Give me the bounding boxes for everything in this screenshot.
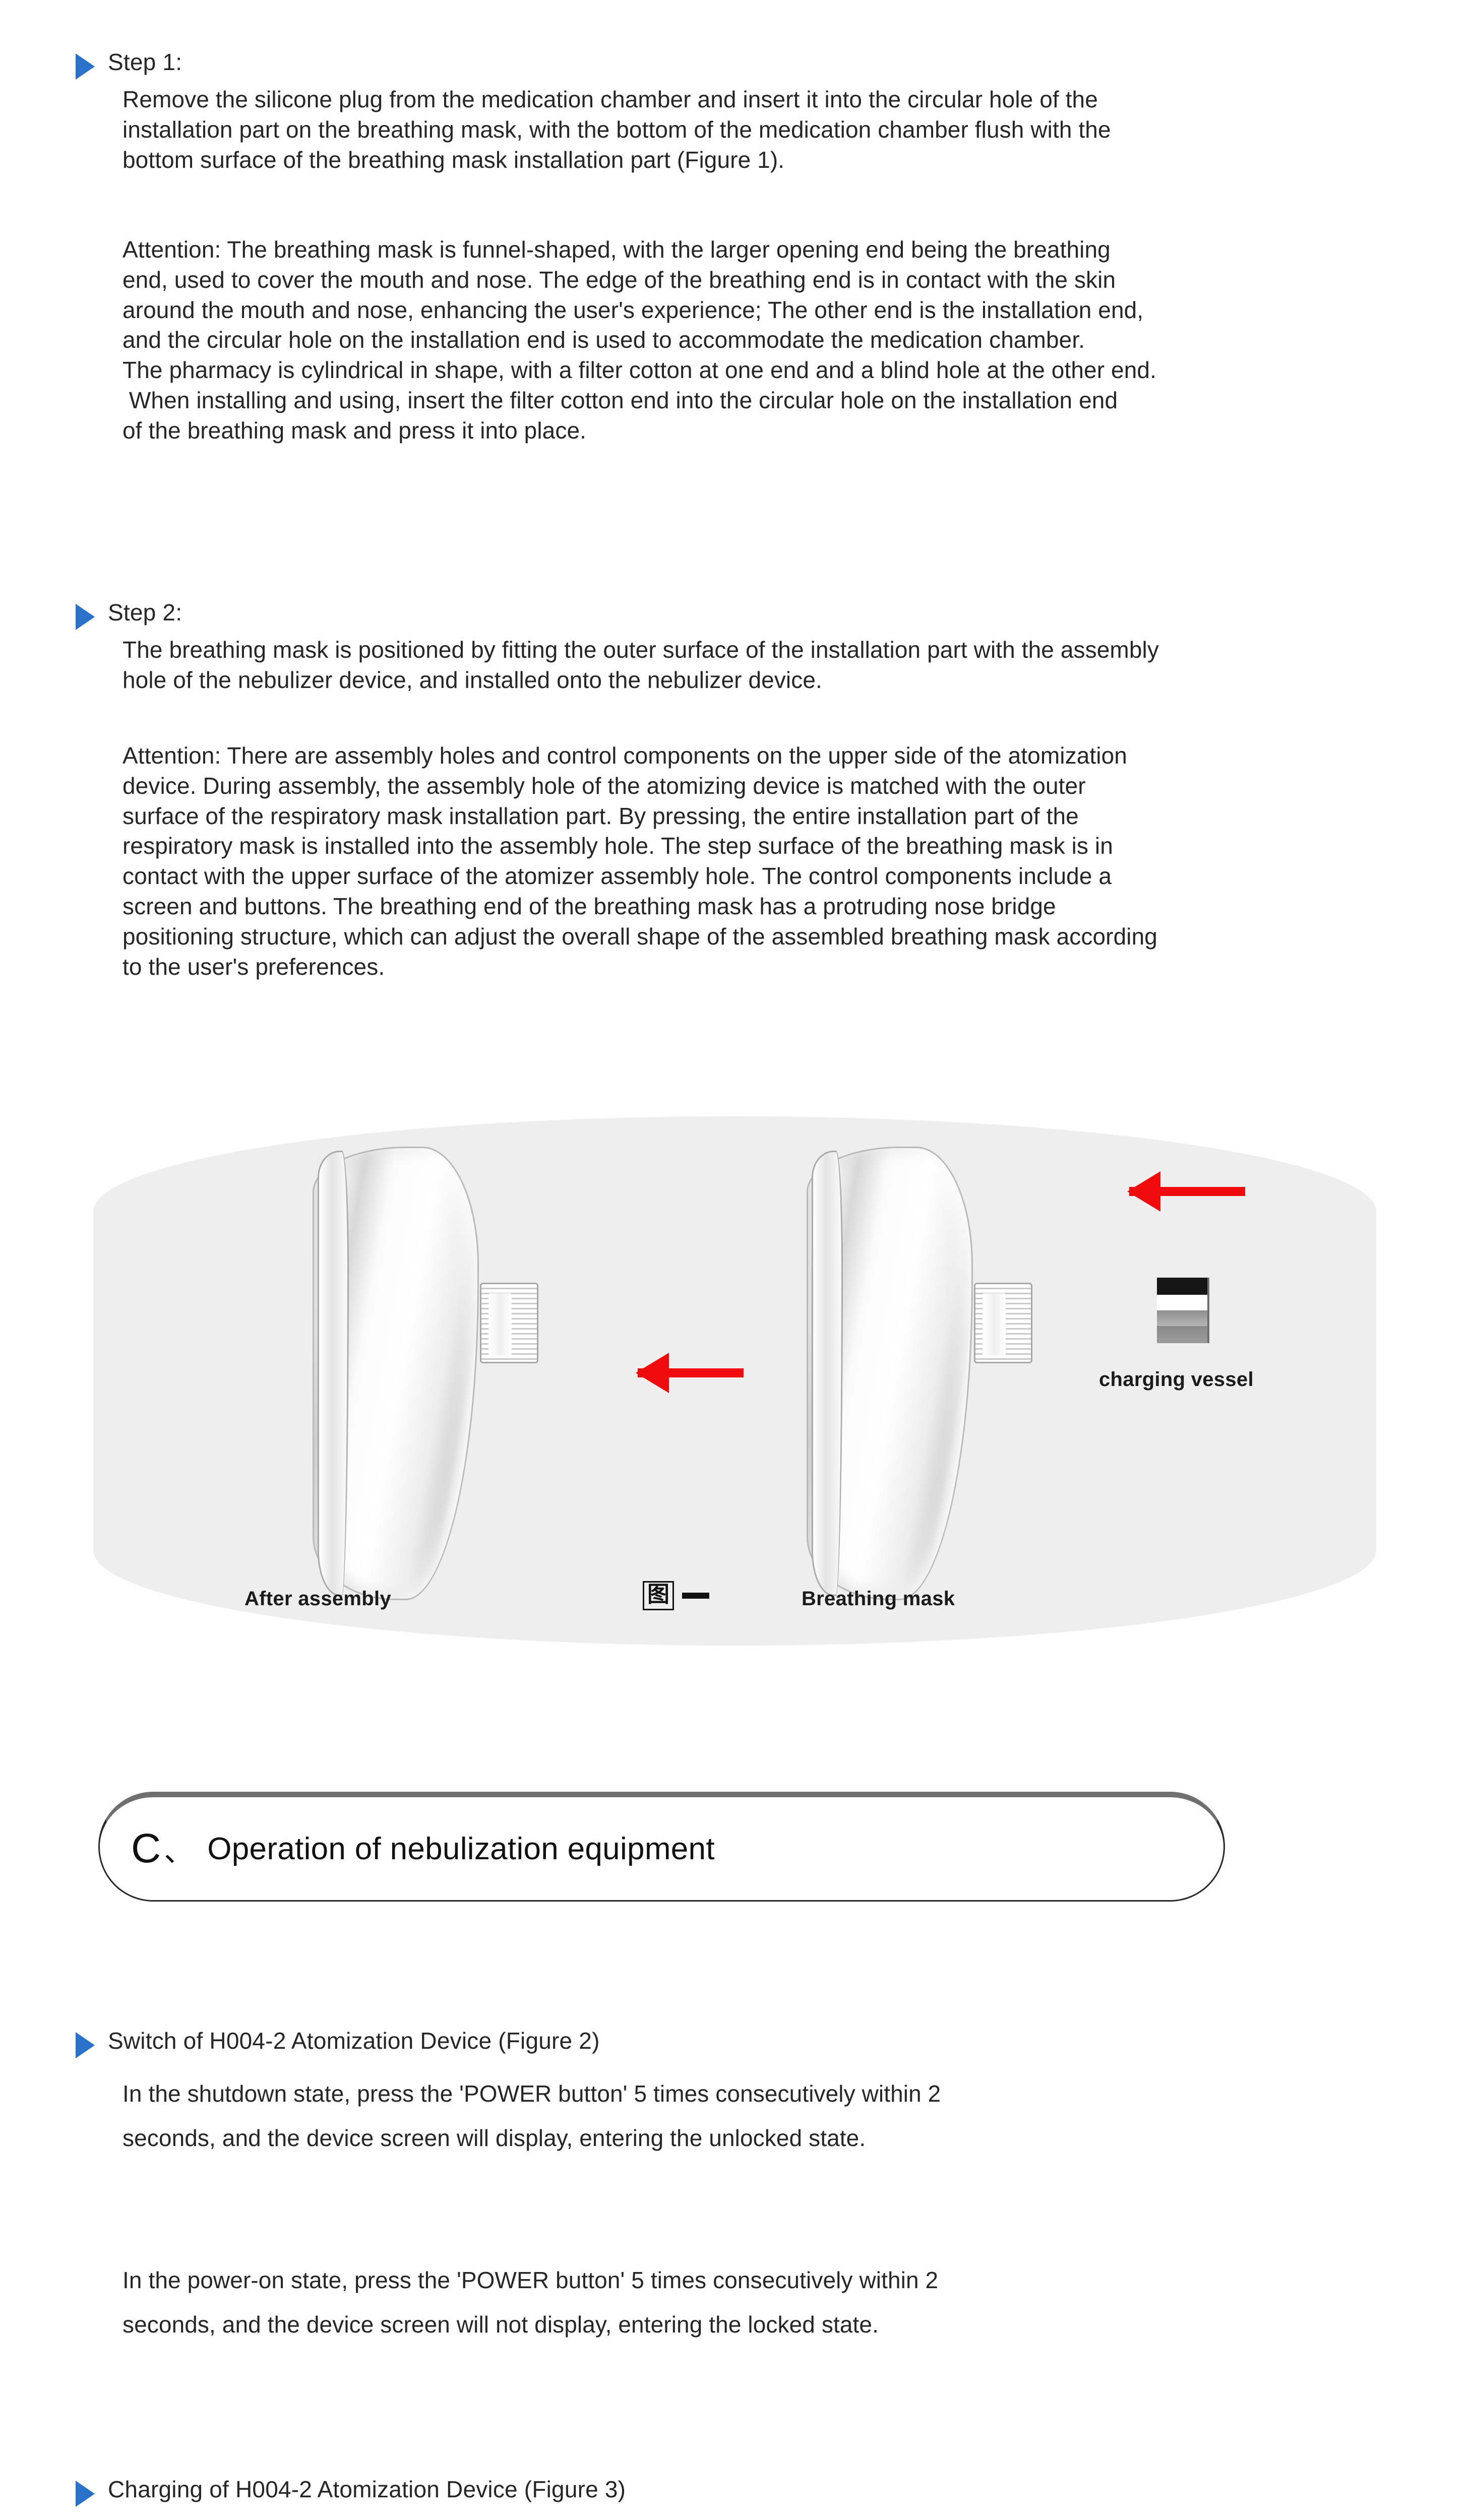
section-title: Operation of nebulization equipment [207,1831,715,1867]
assembled-mask-illustration [313,1147,484,1600]
step-1-title: Step 1: [108,48,182,76]
operation-switch-section: Switch of H004-2 Atomization Device (Fig… [76,2027,1437,2058]
mask-rim-shape [812,1151,843,1596]
step-1-attention: Attention: The breathing mask is funnel-… [122,235,1443,446]
figure-cjk-glyph: 图 [643,1581,674,1610]
mask-nozzle-shape [974,1283,1032,1363]
figure-number-dash-icon [682,1593,709,1599]
triangle-bullet-icon [76,604,95,630]
section-header-pill: C 、 Operation of nebulization equipment [98,1792,1225,1902]
triangle-bullet-icon [76,2032,95,2058]
step-2-attention: Attention: There are assembly holes and … [122,741,1463,982]
operation-charging-section: Charging of H004-2 Atomization Device (F… [76,2476,1437,2507]
after-assembly-label: After assembly [244,1588,391,1610]
step-2-title: Step 2: [108,599,182,626]
operation-charging-title: Charging of H004-2 Atomization Device (F… [108,2476,626,2503]
section-letter: C [131,1828,161,1869]
breathing-mask-illustration [807,1147,978,1600]
step-1-heading-row: Step 1: [76,48,1406,80]
charging-vessel-direction-arrow-icon [1129,1187,1245,1196]
step-1-section: Step 1: [76,48,1406,80]
step-2-section: Step 2: [76,599,1406,630]
triangle-bullet-icon [76,2481,95,2507]
breathing-mask-label: Breathing mask [802,1588,955,1610]
operation-switch-heading-row: Switch of H004-2 Atomization Device (Fig… [76,2027,1437,2058]
assembly-illustration-panel: charging vessel After assembly 图 Breathi… [93,1116,1376,1646]
mask-rim-shape [318,1151,349,1596]
step-1-body: Remove the silicone plug from the medica… [122,85,1443,175]
step-2-body: The breathing mask is positioned by fitt… [122,635,1453,696]
step-2-heading-row: Step 2: [76,599,1406,630]
operation-charging-heading-row: Charging of H004-2 Atomization Device (F… [76,2476,1437,2507]
assembly-direction-arrow-icon [638,1368,744,1377]
charging-vessel-label: charging vessel [1099,1368,1254,1391]
charging-vessel-icon [1157,1278,1209,1343]
triangle-bullet-icon [76,53,95,80]
mask-nozzle-shape [480,1283,538,1363]
operation-switch-paragraph-1: In the shutdown state, press the 'POWER … [122,2071,1473,2161]
operation-switch-paragraph-2: In the power-on state, press the 'POWER … [122,2258,1473,2347]
figure-one-reference: 图 [643,1581,709,1610]
instruction-manual-page: Step 1: Remove the silicone plug from th… [0,0,1473,2520]
operation-switch-title: Switch of H004-2 Atomization Device (Fig… [108,2027,600,2054]
section-letter-comma: 、 [164,1828,193,1870]
